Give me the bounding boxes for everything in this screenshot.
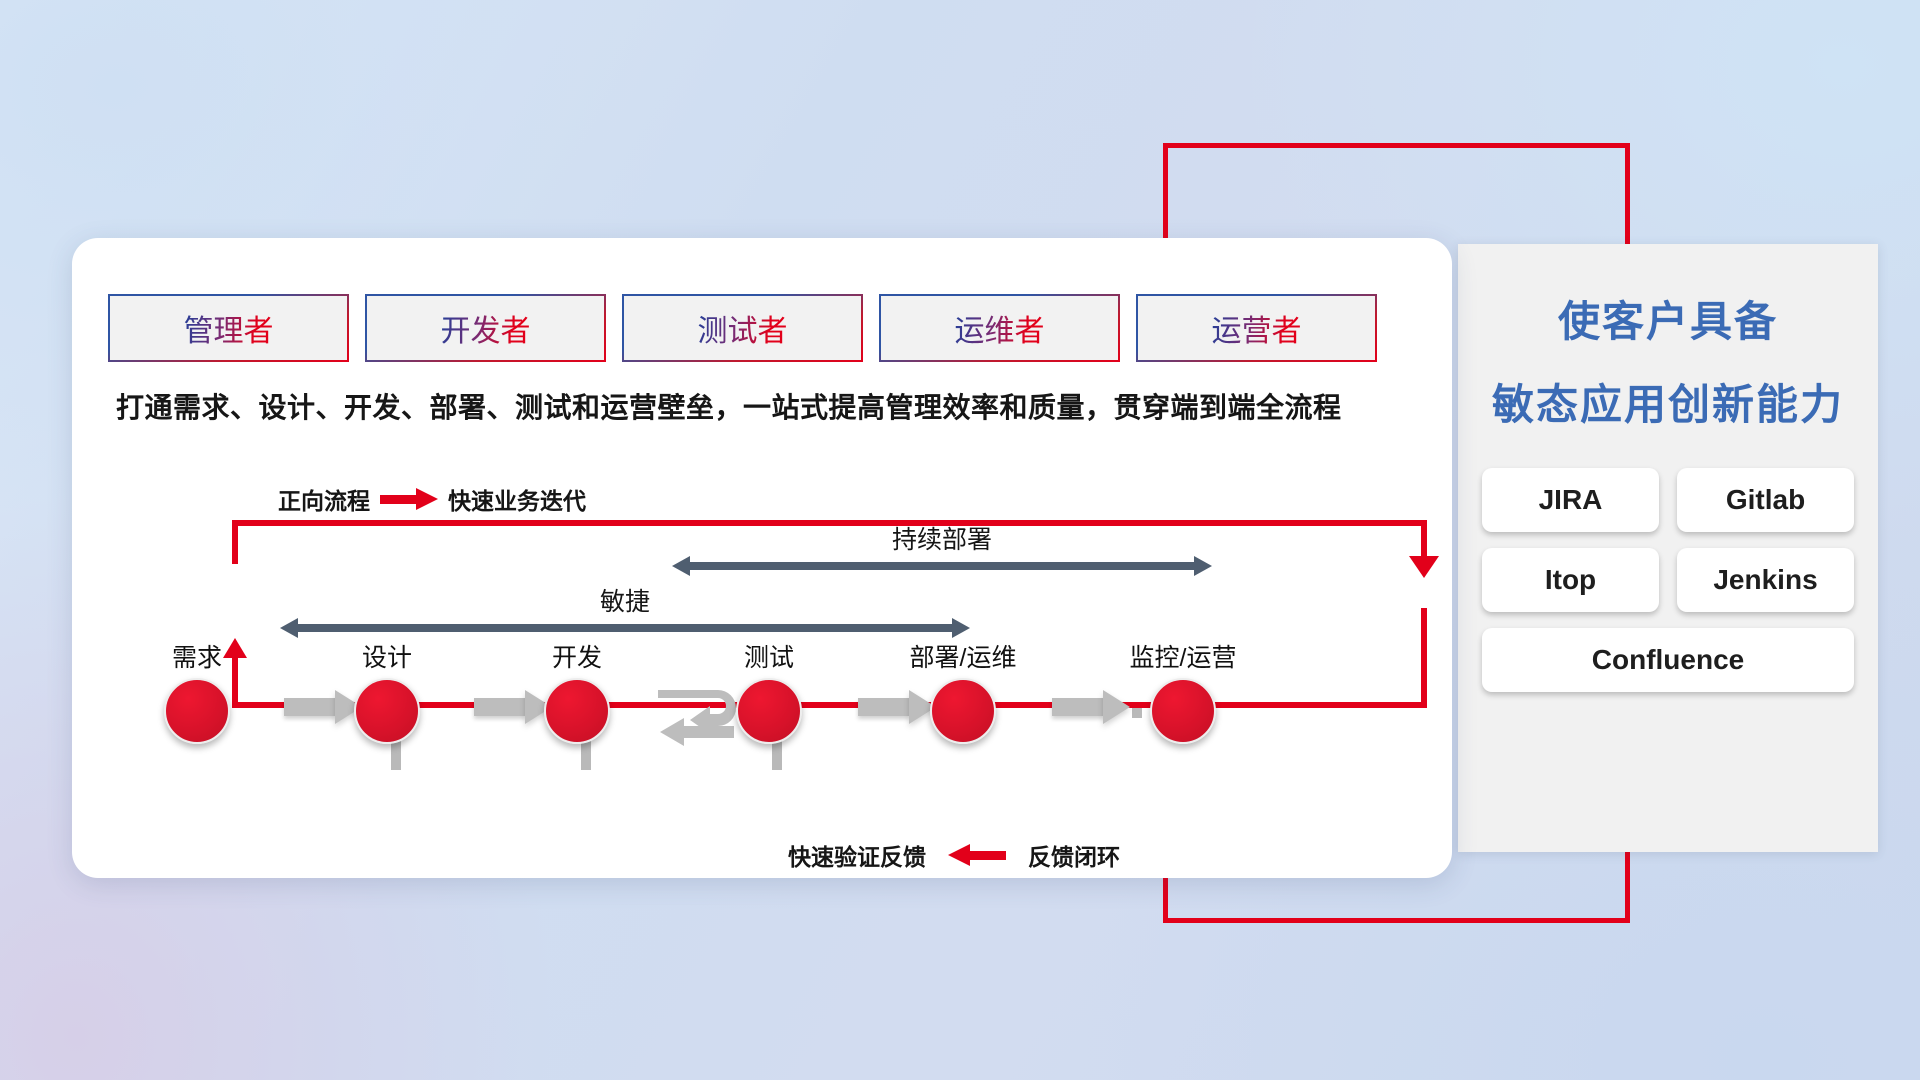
span-arrow-continuous-deployment: 持续部署	[672, 556, 1212, 576]
card-subtitle: 打通需求、设计、开发、部署、测试和运营壁垒，一站式提高管理效率和质量，贯穿端到端…	[116, 386, 1416, 426]
tool-chip-confluence[interactable]: Confluence	[1482, 628, 1854, 692]
flow-node-requirement[interactable]: 需求	[122, 638, 272, 744]
flow-node-monitor-operate[interactable]: 监控/运营	[1108, 638, 1258, 744]
flow-node-dot	[1150, 678, 1216, 744]
outcome-panel: 使客户具备 敏态应用创新能力 JIRA Gitlab Itop Jenkins …	[1458, 244, 1878, 852]
role-box-row: 管理者 开发者 测试者 运维者 运营者	[110, 296, 1375, 360]
span-arrow-label: 持续部署	[672, 520, 1212, 556]
flow-node-label: 部署/运维	[888, 638, 1038, 674]
feedback-loop-left-stub	[232, 520, 238, 564]
role-label: 运营者	[1212, 306, 1302, 350]
flow-node-label: 需求	[122, 638, 272, 674]
devops-flow-row: 需求 设计 开发 测试 部署/运维	[108, 638, 1418, 778]
outcome-title-line-1: 使客户具备	[1458, 288, 1878, 349]
tool-chip-gitlab[interactable]: Gitlab	[1677, 468, 1854, 532]
flow-node-deploy-ops[interactable]: 部署/运维	[888, 638, 1038, 744]
flow-node-develop[interactable]: 开发	[502, 638, 652, 744]
outcome-title-line-2: 敏态应用创新能力	[1458, 371, 1878, 432]
double-arrow-icon	[280, 618, 970, 638]
span-arrow-agile: 敏捷	[280, 618, 970, 638]
double-arrow-icon	[672, 556, 1212, 576]
flow-node-test[interactable]: 测试	[694, 638, 844, 744]
role-box-tester[interactable]: 测试者	[624, 296, 861, 360]
tool-chip-jenkins[interactable]: Jenkins	[1677, 548, 1854, 612]
devops-diagram-card: 管理者 开发者 测试者 运维者 运营者 打通需求、设计、开发、部署、测试和运营壁…	[72, 238, 1452, 878]
forward-flow-left-text: 正向流程	[278, 482, 370, 516]
flow-node-dot	[164, 678, 230, 744]
flow-node-label: 测试	[694, 638, 844, 674]
span-arrow-label: 敏捷	[280, 582, 970, 618]
feedback-loop-right-line	[1421, 608, 1427, 708]
outer-bracket-bottom-line	[1163, 918, 1630, 923]
feedback-loop-legend: 快速验证反馈 反馈闭环	[788, 838, 1120, 872]
role-label: 运维者	[955, 306, 1045, 350]
role-box-developer[interactable]: 开发者	[367, 296, 604, 360]
flow-node-label: 开发	[502, 638, 652, 674]
tool-chip-itop[interactable]: Itop	[1482, 548, 1659, 612]
forward-flow-right-text: 快速业务迭代	[448, 482, 586, 516]
flow-node-dot	[544, 678, 610, 744]
outer-bracket-top-line	[1163, 143, 1630, 148]
forward-flow-legend: 正向流程 快速业务迭代	[278, 482, 586, 516]
tool-chip-grid: JIRA Gitlab Itop Jenkins Confluence	[1458, 432, 1878, 692]
feedback-right-text: 反馈闭环	[1028, 838, 1120, 872]
flow-node-label: 设计	[312, 638, 462, 674]
role-box-ops[interactable]: 运维者	[881, 296, 1118, 360]
role-label: 测试者	[698, 306, 788, 350]
flow-node-dot	[930, 678, 996, 744]
arrow-down-icon	[1409, 556, 1439, 578]
tool-chip-jira[interactable]: JIRA	[1482, 468, 1659, 532]
flow-node-design[interactable]: 设计	[312, 638, 462, 744]
role-label: 管理者	[184, 306, 274, 350]
role-label: 开发者	[441, 306, 531, 350]
flow-node-label: 监控/运营	[1108, 638, 1258, 674]
arrow-left-icon	[948, 844, 1006, 866]
feedback-left-text: 快速验证反馈	[788, 838, 926, 872]
flow-node-dot	[736, 678, 802, 744]
flow-node-dot	[354, 678, 420, 744]
arrow-right-icon	[380, 488, 438, 510]
role-box-manager[interactable]: 管理者	[110, 296, 347, 360]
role-box-operator[interactable]: 运营者	[1138, 296, 1375, 360]
